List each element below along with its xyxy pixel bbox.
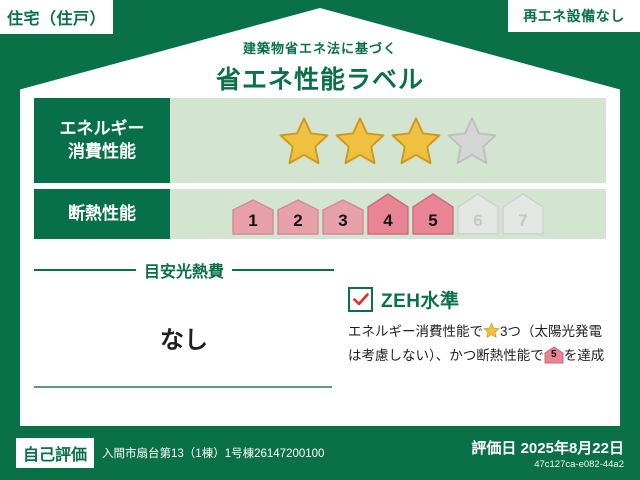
utility-cost-header: 目安光熱費 [34,258,334,282]
insulation-house-4: 4 [367,193,409,235]
cost-bottom-divider [34,386,332,388]
zeh-checkbox [348,287,373,312]
insulation-house-1: 1 [232,199,274,235]
star-rating [278,115,498,167]
energy-label-root: 住宅（住戸） 再エネ設備なし 建築物省エネ法に基づく 省エネ性能ラベル エネルギ… [0,0,640,480]
insulation-performance-label: 断熱性能 [34,189,170,239]
lower-section: 目安光熱費 なし ZEH水準 エネルギー消費性能で 3つ（太陽光発電 [34,258,606,367]
inline-house-number: 5 [544,347,564,363]
zeh-desc-part2: は考慮しない）、かつ断熱性能で [348,348,544,363]
inline-star-icon [483,322,500,346]
inline-house-icon: 5 [544,346,564,364]
house-number-label: 1 [232,211,274,231]
house-number-label: 2 [277,211,319,231]
property-name: 入間市扇台第13（1棟）1号棟26147200100 [102,445,324,461]
house-number-label: 5 [412,211,454,231]
house-number-label: 7 [502,211,544,231]
star-rating-area [170,98,606,183]
badge-building-type: 住宅（住戸） [0,0,113,34]
star-filled-icon [390,115,442,167]
utility-cost-block: 目安光熱費 なし [34,258,334,367]
footer-right: 評価日 2025年8月22日 47c127ca-e082-44a2 [471,437,624,470]
energy-performance-label: エネルギー 消費性能 [34,98,170,183]
title-main: 省エネ性能ラベル [0,60,640,96]
insulation-house-3: 3 [322,199,364,235]
star-empty-icon [446,115,498,167]
zeh-desc-part3: を達成 [564,348,605,363]
utility-cost-value: なし [34,320,334,355]
star-filled-icon [278,115,330,167]
self-evaluation-badge: 自己評価 [16,438,94,468]
cost-rule-right [232,269,334,271]
insulation-house-7: 7 [502,193,544,235]
insulation-label-text: 断熱性能 [68,203,136,226]
zeh-block: ZEH水準 エネルギー消費性能で 3つ（太陽光発電 は考慮しない）、かつ断熱性能… [334,258,606,367]
insulation-scale-area: 1234567 [170,189,606,239]
evaluation-id: 47c127ca-e082-44a2 [471,459,624,470]
insulation-house-6: 6 [457,193,499,235]
house-number-label: 6 [457,211,499,231]
energy-performance-row: エネルギー 消費性能 [34,98,606,183]
house-number-label: 3 [322,211,364,231]
house-number-label: 4 [367,211,409,231]
cost-rule-left [34,269,136,271]
zeh-description: エネルギー消費性能で 3つ（太陽光発電 は考慮しない）、かつ断熱性能で 5 を達… [348,322,606,367]
performance-section: エネルギー 消費性能 断熱性能 1234567 [34,98,606,245]
insulation-scale: 1234567 [232,193,544,235]
zeh-label: ZEH水準 [381,286,460,313]
insulation-house-5: 5 [412,193,454,235]
zeh-desc-part1: エネルギー消費性能で [348,324,483,339]
insulation-performance-row: 断熱性能 1234567 [34,189,606,239]
zeh-title-row: ZEH水準 [348,286,606,313]
zeh-desc-star-count: 3つ（太陽光発電 [500,324,602,339]
footer-left: 自己評価 入間市扇台第13（1棟）1号棟26147200100 [16,438,471,468]
insulation-house-2: 2 [277,199,319,235]
energy-label-line1: エネルギー [60,118,145,141]
title-subtitle: 建築物省エネ法に基づく [0,38,640,57]
star-filled-icon [334,115,386,167]
footer: 自己評価 入間市扇台第13（1棟）1号棟26147200100 評価日 2025… [0,426,640,480]
badge-renewable-energy: 再エネ設備なし [508,0,640,32]
energy-label-line2: 消費性能 [68,141,136,164]
evaluation-date: 評価日 2025年8月22日 [471,437,624,458]
utility-cost-title: 目安光熱費 [144,258,224,282]
page-title: 建築物省エネ法に基づく 省エネ性能ラベル [0,38,640,96]
